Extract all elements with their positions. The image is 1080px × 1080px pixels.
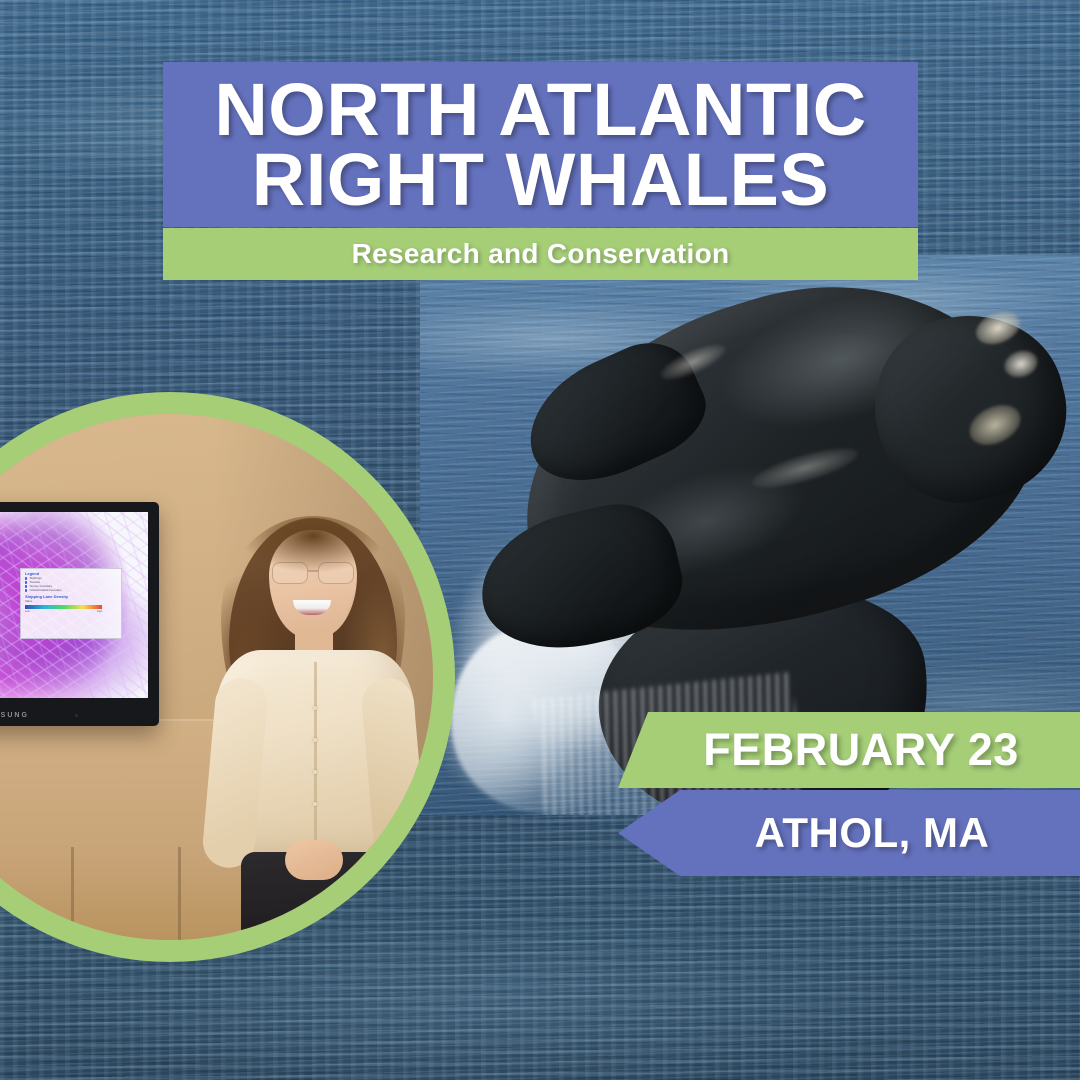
legend-item-label: Critical habitat boundary bbox=[29, 589, 61, 592]
legend-row: Transits bbox=[25, 581, 117, 584]
blouse-button bbox=[313, 770, 317, 774]
legend-marker-icon bbox=[25, 585, 28, 588]
blouse-button bbox=[313, 738, 317, 742]
legend-marker-icon bbox=[25, 581, 28, 584]
page-title-line1: NORTH ATLANTIC bbox=[214, 75, 866, 145]
page-title-line2: RIGHT WHALES bbox=[214, 145, 866, 215]
date-banner: FEBRUARY 23 bbox=[618, 712, 1080, 788]
poster-canvas: NORTH ATLANTIC RIGHT WHALES Research and… bbox=[0, 0, 1080, 1080]
event-date: FEBRUARY 23 bbox=[679, 724, 1019, 776]
legend-item-label: Sightings bbox=[29, 577, 41, 580]
presenter-photo-circle: Legend Sightings Transits Survey boundar… bbox=[0, 392, 455, 962]
map-legend-panel: Legend Sightings Transits Survey boundar… bbox=[20, 568, 122, 639]
legend-marker-icon bbox=[25, 577, 28, 580]
legend-row: Sightings bbox=[25, 577, 117, 580]
presenter-hands bbox=[285, 840, 343, 880]
legend-color-ramp bbox=[25, 605, 102, 609]
legend-scale: Low High bbox=[25, 610, 102, 613]
cabinet-seam bbox=[178, 847, 181, 940]
legend-value-label: Value bbox=[25, 600, 117, 603]
title-banner: NORTH ATLANTIC RIGHT WHALES bbox=[163, 62, 918, 227]
legend-title: Legend bbox=[25, 572, 117, 576]
location-banner: ATHOL, MA bbox=[618, 790, 1080, 876]
monitor-brand-label: SAMSUNG bbox=[0, 712, 159, 719]
legend-scale-high: High bbox=[97, 610, 102, 613]
legend-item-label: Survey boundary bbox=[29, 585, 52, 588]
cabinet-seam bbox=[71, 847, 74, 940]
legend-marker-icon bbox=[25, 589, 28, 592]
legend-density-title: Shipping Lane Density bbox=[25, 595, 117, 599]
presenter-photo-image: Legend Sightings Transits Survey boundar… bbox=[0, 414, 433, 940]
blouse-button bbox=[313, 706, 317, 710]
legend-row: Critical habitat boundary bbox=[25, 589, 117, 592]
presenter-figure bbox=[207, 510, 422, 940]
page-subtitle: Research and Conservation bbox=[352, 238, 730, 270]
event-location: ATHOL, MA bbox=[709, 809, 990, 857]
subtitle-banner: Research and Conservation bbox=[163, 228, 918, 280]
monitor-screen: Legend Sightings Transits Survey boundar… bbox=[0, 512, 148, 698]
legend-row: Survey boundary bbox=[25, 585, 117, 588]
blouse-placket bbox=[314, 662, 317, 858]
legend-scale-low: Low bbox=[25, 610, 30, 613]
blouse-button bbox=[313, 802, 317, 806]
title-block: NORTH ATLANTIC RIGHT WHALES bbox=[214, 75, 866, 214]
wall-monitor: Legend Sightings Transits Survey boundar… bbox=[0, 502, 159, 726]
legend-item-label: Transits bbox=[29, 581, 40, 584]
